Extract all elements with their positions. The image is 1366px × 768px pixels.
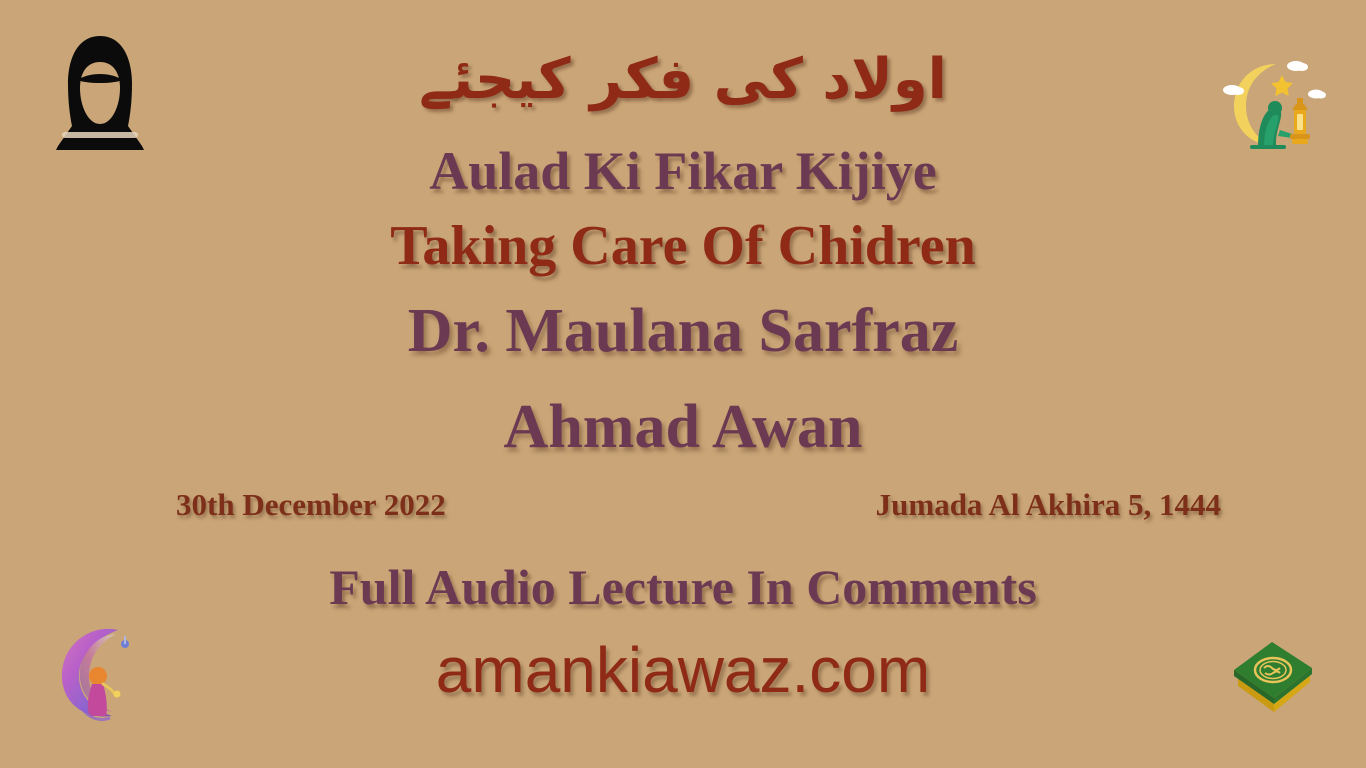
english-title: Taking Care Of Chidren (0, 218, 1366, 274)
speaker-name-line-1: Dr. Maulana Sarfraz (0, 300, 1366, 362)
urdu-title: اولاد کی فکر کیجئے (0, 52, 1366, 108)
call-to-action-text: Full Audio Lecture In Comments (0, 562, 1366, 612)
website-url[interactable]: amankiawaz.com (0, 638, 1366, 702)
gregorian-date: 30th December 2022 (176, 487, 446, 523)
speaker-name-line-2: Ahmad Awan (0, 396, 1366, 458)
date-row: 30th December 2022 Jumada Al Akhira 5, 1… (0, 487, 1366, 527)
hijri-date: Jumada Al Akhira 5, 1444 (876, 487, 1221, 523)
lecture-poster: اولاد کی فکر کیجئے Aulad Ki Fikar Kijiye… (0, 0, 1366, 768)
transliterated-title: Aulad Ki Fikar Kijiye (0, 144, 1366, 198)
poster-text-stack: اولاد کی فکر کیجئے Aulad Ki Fikar Kijiye… (0, 0, 1366, 768)
